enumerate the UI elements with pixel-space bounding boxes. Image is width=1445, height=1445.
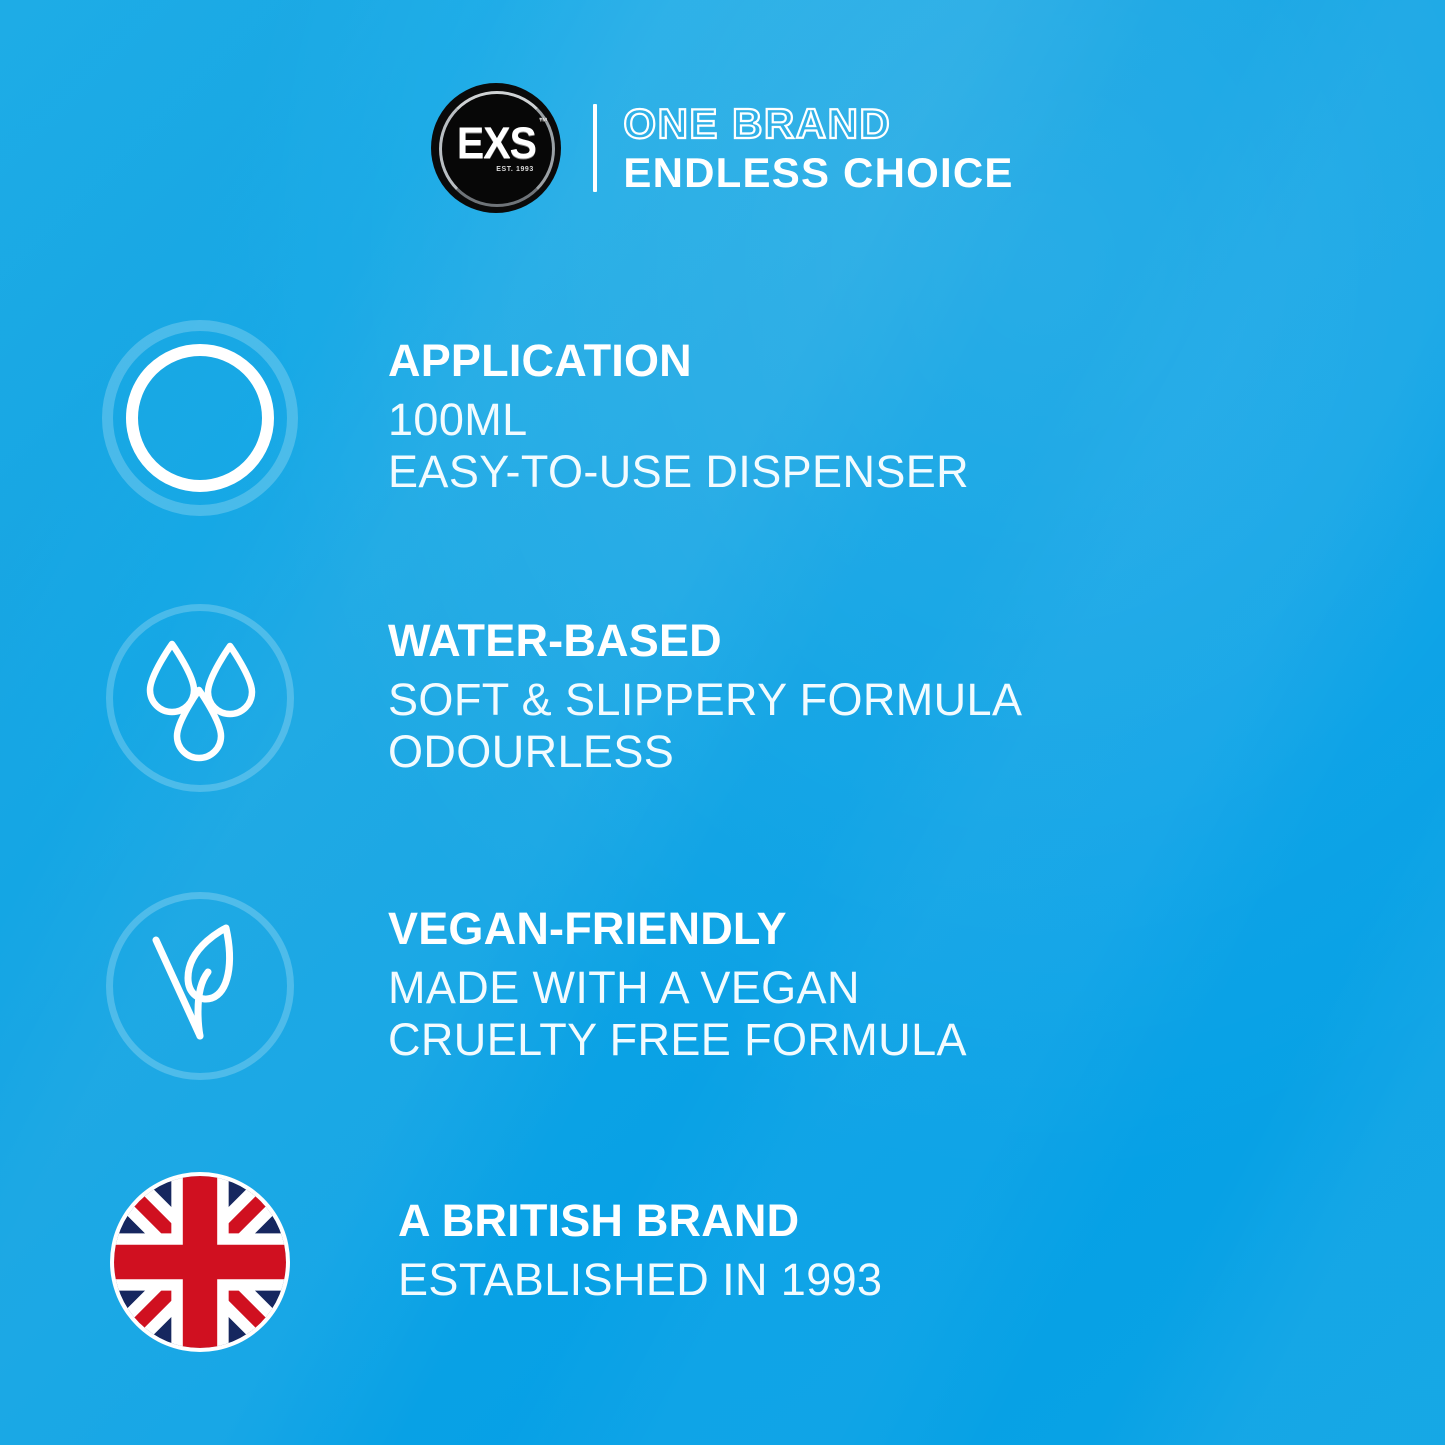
vegan-leaf-icon: [106, 892, 294, 1080]
brand-tagline: ONE BRAND ENDLESS CHOICE: [623, 103, 1013, 194]
feature-detail-line: SOFT & SLIPPERY FORMULA: [388, 674, 1445, 726]
exs-logo-letters: EXS: [457, 118, 536, 168]
exs-logo-wordmark: EXS ™: [457, 121, 536, 165]
trademark-icon: ™: [539, 117, 547, 127]
feature-title: A BRITISH BRAND: [398, 1198, 1445, 1243]
union-jack-flag-icon: [114, 1176, 286, 1348]
concentric-circle-icon: [102, 320, 298, 516]
feature-detail-line: 100ML: [388, 394, 1445, 446]
vegan-leaf-glyph: [130, 916, 270, 1056]
feature-detail-line: ESTABLISHED IN 1993: [398, 1254, 1445, 1306]
feature-text-british-brand: A BRITISH BRAND ESTABLISHED IN 1993: [398, 1172, 1445, 1306]
feature-text-water-based: WATER-BASED SOFT & SLIPPERY FORMULA ODOU…: [388, 598, 1445, 778]
feature-icon-british-brand: [110, 1172, 290, 1352]
feature-icon-vegan: [100, 886, 300, 1086]
feature-detail-line: ODOURLESS: [388, 726, 1445, 778]
feature-detail-line: MADE WITH A VEGAN: [388, 962, 1445, 1014]
concentric-circle-inner-ring: [126, 344, 274, 492]
feature-row-application: APPLICATION 100ML EASY-TO-USE DISPENSER: [0, 318, 1445, 518]
feature-text-vegan: VEGAN-FRIENDLY MADE WITH A VEGAN CRUELTY…: [388, 886, 1445, 1066]
feature-row-vegan: VEGAN-FRIENDLY MADE WITH A VEGAN CRUELTY…: [0, 886, 1445, 1086]
feature-row-british-brand: A BRITISH BRAND ESTABLISHED IN 1993: [0, 1172, 1445, 1352]
feature-icon-water-based: [100, 598, 300, 798]
water-drops-glyph: [130, 628, 270, 768]
tagline-line-two: ENDLESS CHOICE: [623, 152, 1013, 194]
union-jack-glyph: [114, 1176, 286, 1348]
feature-detail-line: EASY-TO-USE DISPENSER: [388, 446, 1445, 498]
water-drops-icon: [106, 604, 294, 792]
exs-logo-inner: EXS ™ EST. 1993: [457, 123, 536, 173]
exs-logo: EXS ™ EST. 1993: [431, 83, 561, 213]
feature-text-application: APPLICATION 100ML EASY-TO-USE DISPENSER: [388, 318, 1445, 498]
feature-detail-line: CRUELTY FREE FORMULA: [388, 1014, 1445, 1066]
feature-title: APPLICATION: [388, 338, 1445, 383]
feature-title: WATER-BASED: [388, 618, 1445, 663]
tagline-line-one: ONE BRAND: [623, 103, 1013, 145]
product-infographic: EXS ™ EST. 1993 ONE BRAND ENDLESS CHOICE…: [0, 0, 1445, 1445]
feature-row-water-based: WATER-BASED SOFT & SLIPPERY FORMULA ODOU…: [0, 598, 1445, 798]
feature-icon-application: [100, 318, 300, 518]
brand-header: EXS ™ EST. 1993 ONE BRAND ENDLESS CHOICE: [0, 78, 1445, 218]
feature-title: VEGAN-FRIENDLY: [388, 906, 1445, 951]
header-divider: [593, 104, 597, 192]
